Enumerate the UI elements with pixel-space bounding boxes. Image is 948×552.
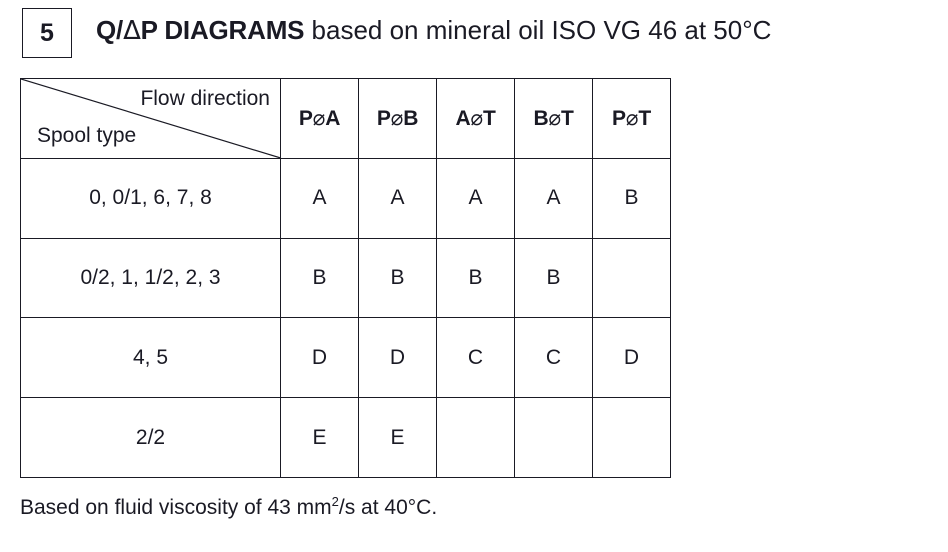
table-row: 0, 0/1, 6, 7, 8 A A A A B <box>21 158 671 238</box>
cell-diagram-letter: C <box>437 318 515 398</box>
column-header-p-to-t: P⌀T <box>593 79 671 159</box>
column-header-a-to-t-from: A <box>455 107 470 130</box>
viscosity-note-superscript: 2 <box>332 494 339 509</box>
column-header-p-to-b: P⌀B <box>359 79 437 159</box>
cell-diagram-letter: B <box>359 238 437 318</box>
section-number: 5 <box>40 21 54 46</box>
diameter-slash-icon: ⌀ <box>313 106 326 130</box>
row-spool-type: 0/2, 1, 1/2, 2, 3 <box>21 238 281 318</box>
viscosity-note-pre: Based on fluid viscosity of 43 mm <box>20 496 332 519</box>
flow-direction-table: Flow direction Spool type P⌀A P⌀B A⌀T B⌀… <box>20 78 671 478</box>
viscosity-note-post: /s at 40°C. <box>339 496 437 519</box>
cell-diagram-letter-empty <box>593 398 671 478</box>
spool-type-label: Spool type <box>37 123 136 149</box>
cell-diagram-letter: E <box>359 398 437 478</box>
row-spool-type: 2/2 <box>21 398 281 478</box>
cell-diagram-letter-empty <box>593 238 671 318</box>
table-header-row: Flow direction Spool type P⌀A P⌀B A⌀T B⌀… <box>21 79 671 159</box>
cell-diagram-letter: D <box>359 318 437 398</box>
column-header-p-to-t-from: P <box>612 107 626 130</box>
title-q-slash: Q/ <box>96 15 123 45</box>
cell-diagram-letter-empty <box>437 398 515 478</box>
column-header-p-to-t-to: T <box>638 107 651 130</box>
diameter-slash-icon: ⌀ <box>391 106 404 130</box>
table-row: 4, 5 D D C C D <box>21 318 671 398</box>
column-header-a-to-t: A⌀T <box>437 79 515 159</box>
delta-symbol: Δ <box>123 16 141 46</box>
cell-diagram-letter: A <box>281 158 359 238</box>
cell-diagram-letter: B <box>515 238 593 318</box>
diameter-slash-icon: ⌀ <box>470 106 483 130</box>
cell-diagram-letter: A <box>515 158 593 238</box>
column-header-b-to-t: B⌀T <box>515 79 593 159</box>
column-header-b-to-t-from: B <box>533 107 548 130</box>
cell-diagram-letter: A <box>359 158 437 238</box>
corner-header-cell: Flow direction Spool type <box>21 79 281 159</box>
section-number-box: 5 <box>22 8 72 58</box>
cell-diagram-letter: D <box>281 318 359 398</box>
viscosity-note: Based on fluid viscosity of 43 mm2/s at … <box>20 494 437 522</box>
page-title: Q/ΔP DIAGRAMS based on mineral oil ISO V… <box>96 14 771 47</box>
diameter-slash-icon: ⌀ <box>548 106 561 130</box>
page-title-subtitle: based on mineral oil ISO VG 46 at 50°C <box>304 15 771 45</box>
table-row: 2/2 E E <box>21 398 671 478</box>
column-header-b-to-t-to: T <box>561 107 574 130</box>
cell-diagram-letter: B <box>593 158 671 238</box>
table-row: 0/2, 1, 1/2, 2, 3 B B B B <box>21 238 671 318</box>
row-spool-type: 0, 0/1, 6, 7, 8 <box>21 158 281 238</box>
column-header-p-to-a: P⌀A <box>281 79 359 159</box>
row-spool-type: 4, 5 <box>21 318 281 398</box>
page-title-strong: Q/ΔP DIAGRAMS <box>96 15 304 45</box>
flow-direction-label: Flow direction <box>140 86 270 112</box>
title-diagrams: P DIAGRAMS <box>141 15 305 45</box>
cell-diagram-letter: B <box>281 238 359 318</box>
diameter-slash-icon: ⌀ <box>626 106 639 130</box>
cell-diagram-letter: E <box>281 398 359 478</box>
column-header-p-to-b-to: B <box>403 107 418 130</box>
cell-diagram-letter: B <box>437 238 515 318</box>
cell-diagram-letter-empty <box>515 398 593 478</box>
column-header-p-to-b-from: P <box>377 107 391 130</box>
cell-diagram-letter: C <box>515 318 593 398</box>
column-header-p-to-a-to: A <box>325 107 340 130</box>
document-header: 5 Q/ΔP DIAGRAMS based on mineral oil ISO… <box>0 0 948 70</box>
cell-diagram-letter: D <box>593 318 671 398</box>
column-header-p-to-a-from: P <box>299 107 313 130</box>
cell-diagram-letter: A <box>437 158 515 238</box>
column-header-a-to-t-to: T <box>483 107 496 130</box>
